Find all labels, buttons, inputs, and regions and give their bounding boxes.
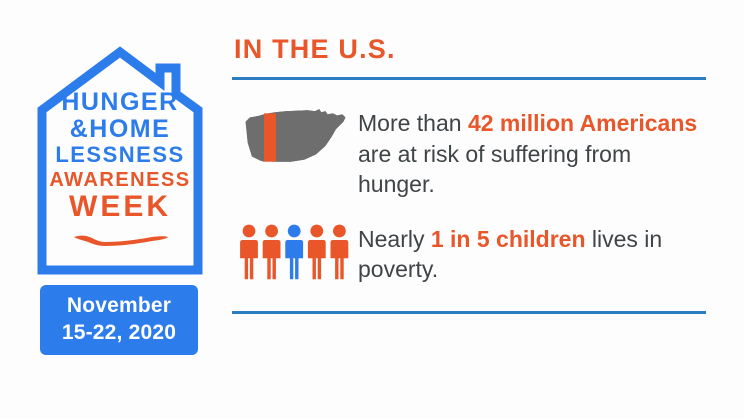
person-4 xyxy=(308,224,326,279)
content-panel: IN THE U.S. More than 42 million America… xyxy=(232,36,710,314)
date-badge: November 15-22, 2020 xyxy=(40,285,198,355)
fact-text-poverty: Nearly 1 in 5 children lives in poverty. xyxy=(358,222,710,285)
fact-text-hunger: More than 42 million Americans are at ri… xyxy=(358,106,710,200)
fact-hunger-part-3: are at risk of suffering from hunger. xyxy=(358,141,631,198)
logo-line-home: &HOME xyxy=(34,117,206,142)
logo-line-hunger: HUNGER xyxy=(34,90,206,115)
divider-top xyxy=(232,77,706,80)
five-people-icon xyxy=(232,222,358,282)
person-5 xyxy=(331,224,349,279)
logo-line-awareness: AWARENESS xyxy=(34,170,206,190)
fact-poverty-part-1: Nearly xyxy=(358,226,431,252)
logo-line-week: WEEK xyxy=(34,192,206,222)
person-2 xyxy=(263,224,281,279)
person-1 xyxy=(240,224,258,279)
us-map-shape xyxy=(242,106,348,168)
infographic-canvas: HUNGER &HOME LESSNESS AWARENESS WEEK Nov… xyxy=(0,0,744,419)
fact-hunger-statistic: 42 million Americans xyxy=(468,110,697,136)
divider-bottom-wrap xyxy=(232,311,710,314)
date-badge-month: November xyxy=(67,293,171,320)
fact-poverty-statistic: 1 in 5 children xyxy=(431,226,586,252)
logo-wordmark: HUNGER &HOME LESSNESS AWARENESS WEEK xyxy=(34,90,206,222)
section-heading: IN THE U.S. xyxy=(234,36,710,63)
people-group-shape xyxy=(239,222,351,282)
divider-bottom xyxy=(232,311,706,314)
fact-row-poverty: Nearly 1 in 5 children lives in poverty. xyxy=(232,222,710,285)
date-badge-days: 15-22, 2020 xyxy=(62,320,176,347)
person-3-highlighted xyxy=(285,224,303,279)
logo-line-lessness: LESSNESS xyxy=(34,144,206,166)
spoon-icon xyxy=(70,232,170,252)
fact-hunger-part-1: More than xyxy=(358,110,468,136)
fact-row-hunger: More than 42 million Americans are at ri… xyxy=(232,106,710,200)
hunger-homelessness-awareness-week-logo: HUNGER &HOME LESSNESS AWARENESS WEEK xyxy=(34,46,206,278)
us-map-icon xyxy=(232,106,358,168)
